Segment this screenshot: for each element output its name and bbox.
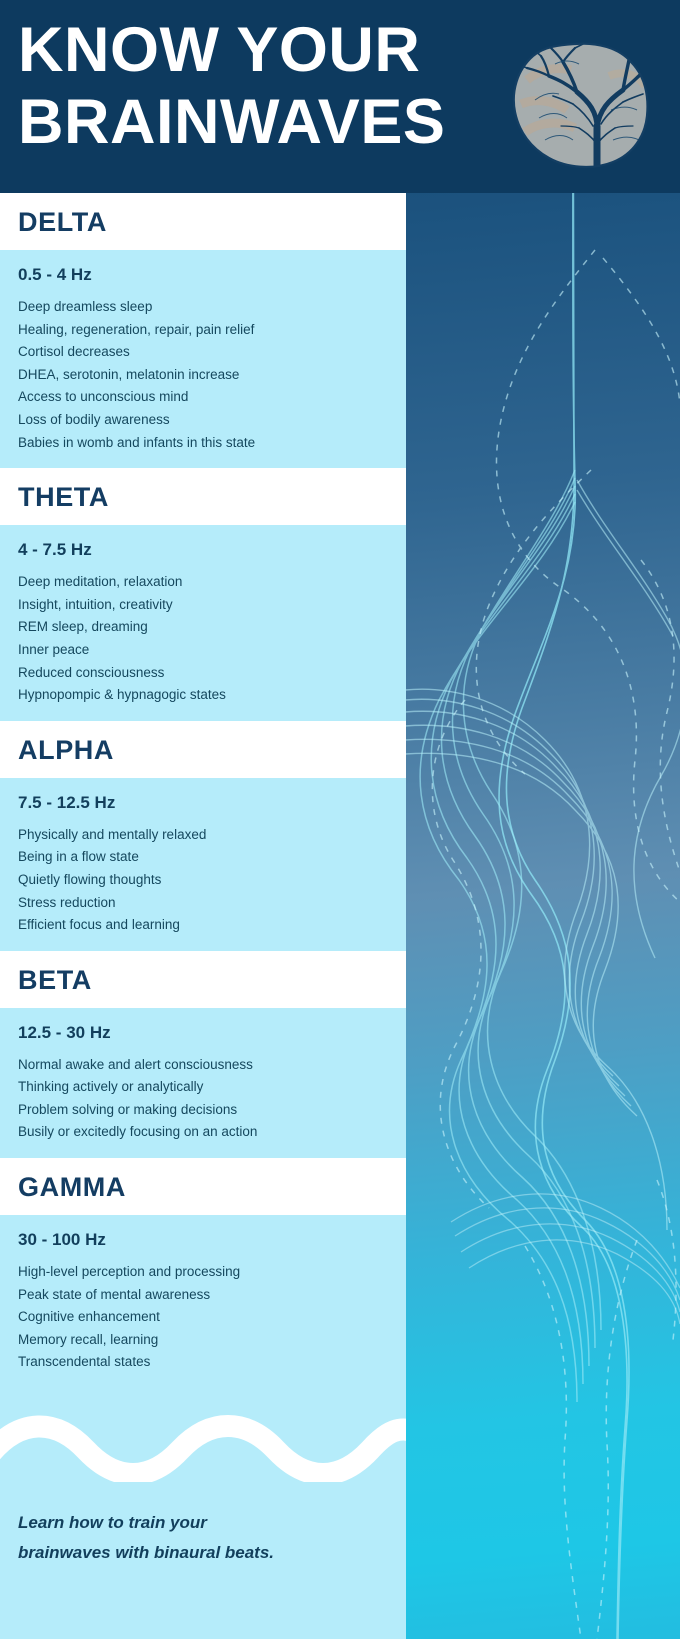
band-name-alpha: ALPHA [18,735,406,766]
list-item: Healing, regeneration, repair, pain reli… [18,319,406,342]
band-items-theta: Deep meditation, relaxation Insight, int… [18,571,406,707]
wave-lines-svg [405,0,680,1639]
brainwave-bands-list: DELTA 0.5 - 4 Hz Deep dreamless sleep He… [0,193,406,1639]
band-items-beta: Normal awake and alert consciousness Thi… [18,1054,406,1144]
list-item: Stress reduction [18,892,406,915]
title-line-2: BRAINWAVES [18,86,518,158]
band-body-gamma: 30 - 100 Hz High-level perception and pr… [0,1215,406,1388]
list-item: Access to unconscious mind [18,386,406,409]
list-item: Hypnopompic & hypnagogic states [18,684,406,707]
list-item: Cortisol decreases [18,341,406,364]
list-item: Deep meditation, relaxation [18,571,406,594]
list-item: Problem solving or making decisions [18,1099,406,1122]
list-item: Peak state of mental awareness [18,1284,406,1307]
list-item: Reduced consciousness [18,662,406,685]
band-items-delta: Deep dreamless sleep Healing, regenerati… [18,296,406,454]
band-frequency-theta: 4 - 7.5 Hz [18,539,406,561]
band-frequency-alpha: 7.5 - 12.5 Hz [18,792,406,814]
band-name-gamma: GAMMA [18,1172,406,1203]
list-item: Babies in womb and infants in this state [18,432,406,455]
footer-line-2: brainwaves with binaural beats. [18,1538,406,1568]
band-header-beta: BETA [0,951,406,1008]
band-header-delta: DELTA [0,193,406,250]
band-frequency-gamma: 30 - 100 Hz [18,1229,406,1251]
band-header-theta: THETA [0,468,406,525]
band-body-alpha: 7.5 - 12.5 Hz Physically and mentally re… [0,778,406,951]
band-items-alpha: Physically and mentally relaxed Being in… [18,824,406,937]
list-item: Insight, intuition, creativity [18,594,406,617]
list-item: REM sleep, dreaming [18,616,406,639]
list-item: Busily or excitedly focusing on an actio… [18,1121,406,1144]
list-item: Memory recall, learning [18,1329,406,1352]
list-item: Inner peace [18,639,406,662]
band-body-theta: 4 - 7.5 Hz Deep meditation, relaxation I… [0,525,406,721]
band-items-gamma: High-level perception and processing Pea… [18,1261,406,1374]
list-item: Cognitive enhancement [18,1306,406,1329]
list-item: Normal awake and alert consciousness [18,1054,406,1077]
list-item: Quietly flowing thoughts [18,869,406,892]
list-item: Thinking actively or analytically [18,1076,406,1099]
brain-tree-icon [505,40,653,170]
list-item: Deep dreamless sleep [18,296,406,319]
band-name-theta: THETA [18,482,406,513]
title-line-1: KNOW YOUR [18,14,518,86]
wave-divider [0,1410,406,1482]
band-body-delta: 0.5 - 4 Hz Deep dreamless sleep Healing,… [0,250,406,468]
list-item: Efficient focus and learning [18,914,406,937]
list-item: Being in a flow state [18,846,406,869]
infographic-page: KNOW YOUR BRAINWAVES [0,0,680,1639]
header-banner: KNOW YOUR BRAINWAVES [0,0,680,193]
list-item: DHEA, serotonin, melatonin increase [18,364,406,387]
band-header-alpha: ALPHA [0,721,406,778]
band-frequency-beta: 12.5 - 30 Hz [18,1022,406,1044]
band-body-beta: 12.5 - 30 Hz Normal awake and alert cons… [0,1008,406,1158]
list-item: Physically and mentally relaxed [18,824,406,847]
footer-callout: Learn how to train your brainwaves with … [0,1482,406,1602]
band-frequency-delta: 0.5 - 4 Hz [18,264,406,286]
list-item: Transcendental states [18,1351,406,1374]
band-name-delta: DELTA [18,207,406,238]
footer-line-1: Learn how to train your [18,1508,406,1538]
brainwave-graphic-panel [405,0,680,1639]
page-title: KNOW YOUR BRAINWAVES [18,14,518,158]
list-item: Loss of bodily awareness [18,409,406,432]
band-name-beta: BETA [18,965,406,996]
band-header-gamma: GAMMA [0,1158,406,1215]
list-item: High-level perception and processing [18,1261,406,1284]
